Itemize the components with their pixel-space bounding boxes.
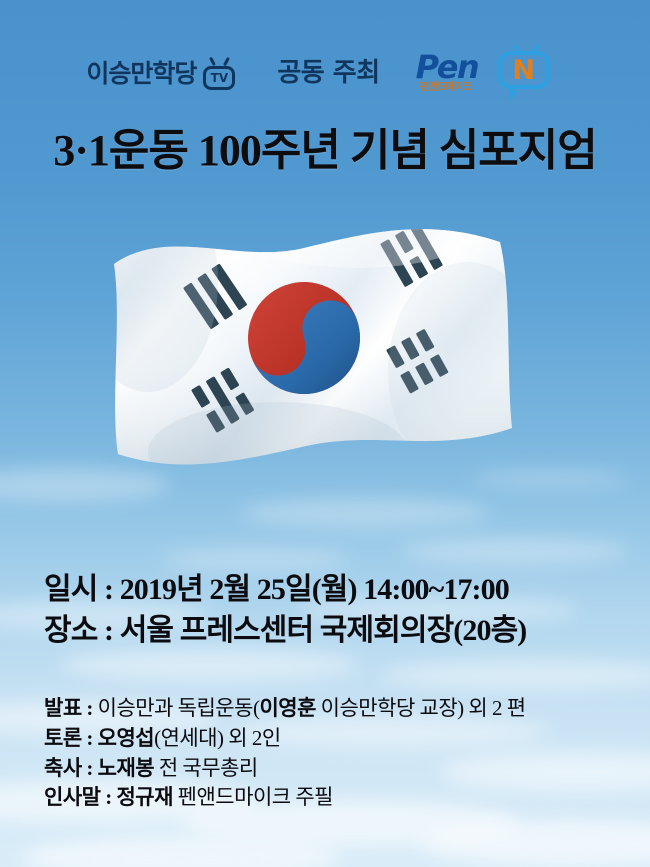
detail-row-greeting: 인사말 : 정규재 펜앤드마이크 주필 [44,783,644,813]
event-place-line: 장소 : 서울 프레스센터 국제회의장(20층) [44,610,644,651]
event-program-details: 발표 : 이승만과 독립운동(이영훈 이승만학당 교장) 외 2 편 토론 : … [44,694,644,813]
congratulatory-post: 전 국무총리 [154,756,258,780]
greeting-post: 펜앤드마이크 주필 [173,785,333,809]
detail-row-discussion: 토론 : 오영섭(연세대) 외 2인 [44,724,644,754]
congratulatory-name: 노재봉 [98,756,154,780]
partner-badge-letter: N [498,51,550,89]
congratulatory-label: 축사 : [44,756,98,780]
tv-screen-icon: TV [203,66,235,90]
discussion-label: 토론 : [44,726,98,750]
tv-badge-label: TV [211,72,228,84]
tv-antenna-right-icon [223,56,229,65]
header-organizers: 이승만학당 TV 공동 주최 Pen 펜앤드마이크 N [0,42,650,104]
presentation-name: 이영훈 [259,696,315,720]
taegukgi-flag-image [108,222,518,477]
event-when-where: 일시 : 2019년 2월 25일(월) 14:00~17:00 장소 : 서울… [44,569,644,651]
partner-subtext: 펜앤드마이크 [420,83,472,93]
presentation-pre: 이승만과 독립운동( [98,696,260,720]
presentation-label: 발표 : [44,696,98,720]
partner-bubble-icon: N [498,45,552,92]
tv-icon: TV [203,57,237,90]
event-date-line: 일시 : 2019년 2월 25일(월) 14:00~17:00 [44,569,644,610]
page-title: 3·1운동 100주년 기념 심포지엄 [0,124,650,178]
detail-row-presentation: 발표 : 이승만과 독립운동(이영훈 이승만학당 교장) 외 2 편 [44,694,644,724]
partner-wordmark: Pen [416,51,479,83]
greeting-label: 인사말 : [44,785,116,809]
taegukgi-svg [108,222,518,477]
tv-antenna-left-icon [209,56,215,65]
detail-row-congratulatory: 축사 : 노재봉 전 국무총리 [44,754,644,784]
presentation-post: 이승만학당 교장) 외 2 편 [316,696,526,720]
cohost-label: 공동 주최 [277,60,379,86]
organizer-logo: 이승만학당 TV [86,57,237,90]
discussion-post: (연세대) 외 2인 [154,726,281,750]
greeting-name: 정규재 [116,785,172,809]
discussion-name: 오영섭 [98,726,154,750]
symposium-poster: 이승만학당 TV 공동 주최 Pen 펜앤드마이크 N 3·1운동 100주년 [0,0,650,867]
partner-logo-penandmike: Pen 펜앤드마이크 N [414,43,564,103]
organizer-name: 이승만학당 [86,61,196,86]
